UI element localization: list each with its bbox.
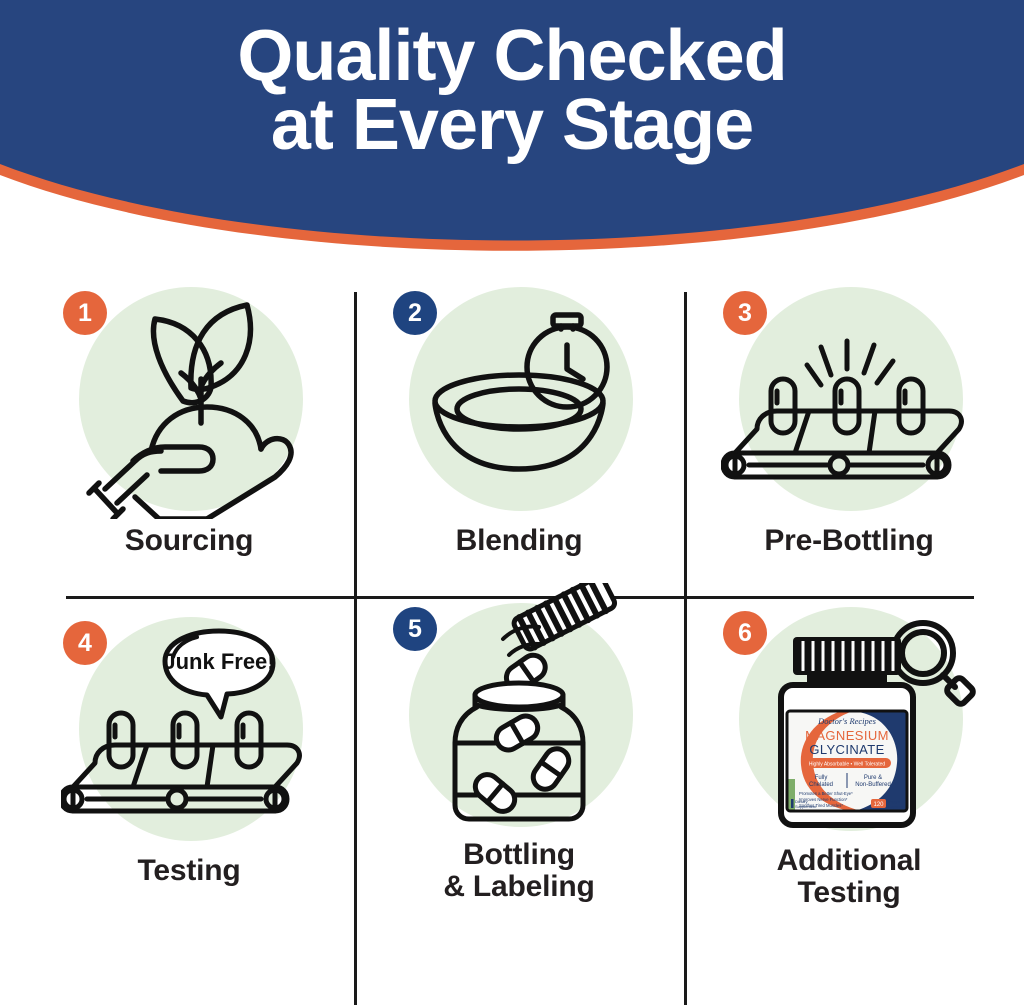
step-number-badge-5: 5 [393, 607, 437, 651]
step-number-3: 3 [738, 301, 752, 326]
capsule-left [109, 713, 133, 767]
step-label-2-line-1: Blending [456, 525, 583, 557]
label-count: 120 [873, 802, 884, 808]
claim-left-line-1: Fully [815, 775, 828, 781]
step-label-5-line-1: Bottling [443, 839, 594, 871]
label-count-unit-line-2: Capsules [888, 804, 905, 809]
step-4-icon-stage: Junk Free! 4 [61, 613, 317, 849]
step-number-badge-4: 4 [63, 621, 107, 665]
step-label-1: Sourcing [125, 525, 253, 557]
step-2-icon-stage: 2 [391, 283, 647, 519]
step-5-icon-stage: 5 [391, 599, 647, 835]
step-number-6: 6 [738, 621, 752, 646]
header-navy-band [0, 0, 1024, 241]
step-number-5: 5 [408, 617, 422, 642]
step-label-6-line-1: Additional [777, 845, 922, 877]
product-name-line-2: GLYCINATE [809, 742, 884, 757]
step-label-1-line-1: Sourcing [125, 525, 253, 557]
header-banner: Quality Checked at Every Stage [0, 0, 1024, 275]
step-1-icon-stage: 1 [61, 283, 317, 519]
step-label-5-line-2: & Labeling [443, 871, 594, 903]
step-label-2: Blending [456, 525, 583, 557]
step-card-pre-bottling[interactable]: 3 Pre-Bottling [684, 275, 1014, 597]
claim-right-line-1: Pure & [864, 775, 882, 781]
step-6-icon-stage: Doctor's Recipes MAGNESIUM GLYCINATE Hig… [721, 603, 977, 839]
capsule-right [237, 713, 261, 767]
capsule-center [173, 713, 197, 767]
step-card-testing[interactable]: Junk Free! 4 Testing [24, 599, 354, 921]
step-card-bottling-labeling[interactable]: 5 Bottling & Labeling [354, 599, 684, 921]
step-label-5: Bottling & Labeling [443, 839, 594, 903]
step-number-badge-3: 3 [723, 291, 767, 335]
step-number-badge-2: 2 [393, 291, 437, 335]
brand-name: Doctor's Recipes [817, 716, 876, 726]
claim-left-line-2: Chelated [809, 782, 833, 788]
jar-cap [512, 583, 617, 651]
product-name-line-1: MAGNESIUM [805, 728, 889, 743]
step-number-1: 1 [78, 301, 92, 326]
step-label-3: Pre-Bottling [764, 525, 933, 557]
product-label: Doctor's Recipes MAGNESIUM GLYCINATE Hig… [787, 711, 907, 811]
step-label-4: Testing [137, 855, 240, 887]
step-number-badge-6: 6 [723, 611, 767, 655]
step-number-4: 4 [78, 631, 92, 656]
step-number-badge-1: 1 [63, 291, 107, 335]
step-label-6-line-2: Testing [777, 877, 922, 909]
step-label-3-line-1: Pre-Bottling [764, 525, 933, 557]
capsule-left [771, 379, 795, 433]
step-number-2: 2 [408, 301, 422, 326]
bottle-cap [793, 637, 901, 687]
header-curve-shape [0, 0, 1024, 275]
step-card-sourcing[interactable]: 1 Sourcing [24, 275, 354, 597]
step-card-blending[interactable]: 2 Blending [354, 275, 684, 597]
product-tagline: Highly Absorbable • Well Tolerated [809, 762, 886, 768]
speech-bubble-text: Junk Free! [163, 649, 274, 674]
step-3-icon-stage: 3 [721, 283, 977, 519]
capsule-center [835, 379, 859, 433]
step-card-additional-testing[interactable]: Doctor's Recipes MAGNESIUM GLYCINATE Hig… [684, 599, 1014, 921]
step-label-4-line-1: Testing [137, 855, 240, 887]
capsule-right [899, 379, 923, 433]
step-label-6: Additional Testing [777, 845, 922, 909]
steps-grid: 1 Sourcing [0, 275, 1024, 1005]
claim-right-line-2: Non-Buffered [855, 782, 891, 788]
dietary-line-2: Supplement [795, 804, 817, 809]
label-bullet-1: Promotes a Better Shut-Eye* [799, 791, 853, 796]
